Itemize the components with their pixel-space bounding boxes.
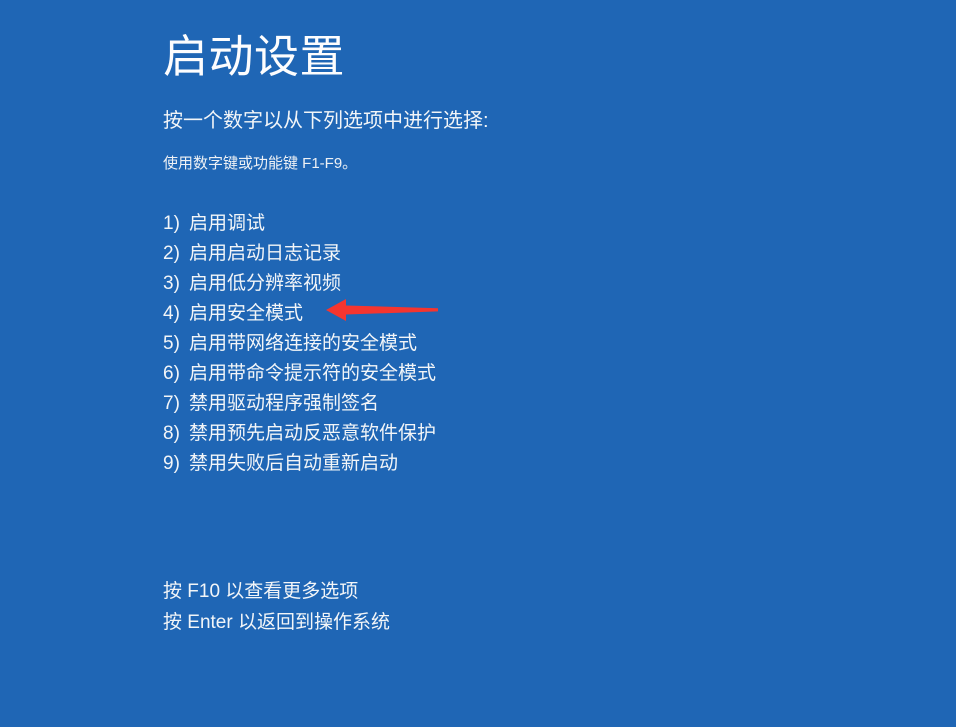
startup-option-1[interactable]: 1) 启用调试 <box>163 208 763 238</box>
footer-instructions: 按 F10 以查看更多选项 按 Enter 以返回到操作系统 <box>163 576 763 638</box>
option-label-9: 禁用失败后自动重新启动 <box>189 448 398 475</box>
option-label-8: 禁用预先启动反恶意软件保护 <box>189 418 436 445</box>
option-label-5: 启用带网络连接的安全模式 <box>189 328 417 355</box>
option-key-3: 3) <box>163 273 189 295</box>
option-key-7: 7) <box>163 393 189 415</box>
option-label-7: 禁用驱动程序强制签名 <box>189 388 379 415</box>
page-title: 启动设置 <box>163 31 345 83</box>
startup-option-7[interactable]: 7) 禁用驱动程序强制签名 <box>163 388 763 418</box>
option-label-3: 启用低分辨率视频 <box>189 268 341 295</box>
startup-option-6[interactable]: 6) 启用带命令提示符的安全模式 <box>163 358 763 388</box>
content-area: 启动设置 按一个数字以从下列选项中进行选择: 使用数字键或功能键 F1-F9。 … <box>163 0 923 727</box>
startup-option-8[interactable]: 8) 禁用预先启动反恶意软件保护 <box>163 418 763 448</box>
footer-more-options-text: 按 F10 以查看更多选项 <box>163 576 763 607</box>
startup-options-list: 1) 启用调试 2) 启用启动日志记录 3) 启用低分辨率视频 4) 启用安全模… <box>163 208 763 478</box>
option-key-4: 4) <box>163 303 189 325</box>
option-key-8: 8) <box>163 423 189 445</box>
option-key-1: 1) <box>163 213 189 235</box>
option-label-1: 启用调试 <box>189 208 265 235</box>
startup-option-2[interactable]: 2) 启用启动日志记录 <box>163 238 763 268</box>
option-key-6: 6) <box>163 363 189 385</box>
startup-option-3[interactable]: 3) 启用低分辨率视频 <box>163 268 763 298</box>
option-label-6: 启用带命令提示符的安全模式 <box>189 358 436 385</box>
startup-settings-screen: 启动设置 按一个数字以从下列选项中进行选择: 使用数字键或功能键 F1-F9。 … <box>0 0 956 727</box>
footer-return-os-text: 按 Enter 以返回到操作系统 <box>163 607 763 638</box>
option-key-2: 2) <box>163 243 189 265</box>
instruction-subtitle: 按一个数字以从下列选项中进行选择: <box>163 108 489 134</box>
option-label-4: 启用安全模式 <box>189 298 303 325</box>
keyboard-hint-text: 使用数字键或功能键 F1-F9。 <box>163 154 357 174</box>
option-label-2: 启用启动日志记录 <box>189 238 341 265</box>
option-key-9: 9) <box>163 453 189 475</box>
startup-option-5[interactable]: 5) 启用带网络连接的安全模式 <box>163 328 763 358</box>
startup-option-9[interactable]: 9) 禁用失败后自动重新启动 <box>163 448 763 478</box>
option-key-5: 5) <box>163 333 189 355</box>
startup-option-4[interactable]: 4) 启用安全模式 <box>163 298 763 328</box>
